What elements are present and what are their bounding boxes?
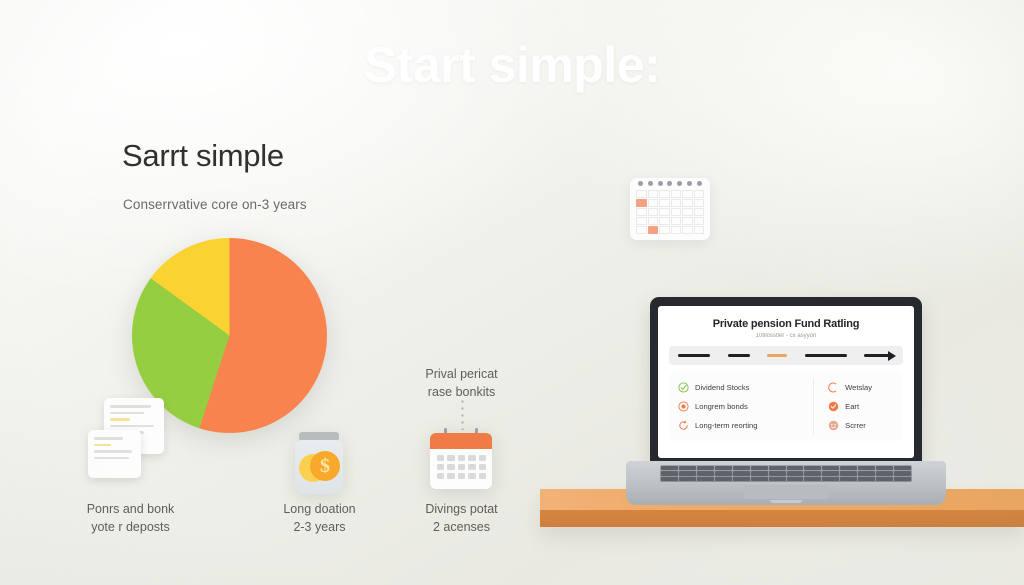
keyboard-key <box>787 471 804 475</box>
keyboard-key <box>715 477 732 481</box>
keyboard-key <box>876 477 893 481</box>
caption-jar: Long doation 2-3 years <box>237 500 402 536</box>
calendar-cell <box>694 208 705 216</box>
keyboard-key <box>733 471 750 475</box>
calendar-cell <box>671 190 682 198</box>
progress-segment-3-active <box>767 354 787 357</box>
keyboard-key <box>769 466 786 470</box>
keyboard-key <box>822 471 839 475</box>
laptop-notch <box>770 500 802 503</box>
laptop-base <box>626 461 946 505</box>
calendar-cell <box>648 217 659 225</box>
keyboard-key <box>715 466 732 470</box>
calendar-cell <box>671 208 682 216</box>
check-filled-icon <box>828 401 839 412</box>
list-item-label: Longrem bonds <box>695 402 748 411</box>
money-jar-icon: $ <box>292 432 346 494</box>
calendar-cell <box>659 199 670 207</box>
calendar-cell <box>659 226 670 234</box>
caption-documents-line2: yote r deposts <box>48 518 213 536</box>
keyboard-key <box>840 477 857 481</box>
calendar-cell <box>682 208 693 216</box>
hero-title: Start simple: <box>0 36 1024 94</box>
callout-text: Prival pericat rase bonkits <box>379 365 544 401</box>
laptop-lid: Private pension Fund Ratling 10filosstle… <box>650 297 922 467</box>
keyboard-key <box>661 477 678 481</box>
keyboard-key <box>679 477 696 481</box>
keyboard-key <box>787 477 804 481</box>
progress-segment-4 <box>805 354 847 357</box>
keyboard-key <box>787 466 804 470</box>
spiral-calendar-grid <box>636 190 704 234</box>
list-item-label: Wetslay <box>845 383 872 392</box>
calendar-cell <box>682 199 693 207</box>
progress-bar[interactable] <box>669 346 903 365</box>
arrow-right-icon <box>864 354 894 357</box>
calendar-cell <box>694 199 705 207</box>
caption-jar-line1: Long doation <box>237 500 402 518</box>
keyboard-key <box>751 471 768 475</box>
calendar-cell <box>671 217 682 225</box>
list-item[interactable]: Dividend Stocks <box>673 378 813 397</box>
list-item-label: Dividend Stocks <box>695 383 749 392</box>
calendar-cell <box>648 199 659 207</box>
list-column-left: Dividend Stocks Longrem bonds <box>673 378 813 435</box>
keyboard-key <box>894 477 911 481</box>
keyboard-key <box>858 471 875 475</box>
progress-segment-2 <box>728 354 750 357</box>
calendar-cell <box>636 226 647 234</box>
laptop-trackpad[interactable] <box>744 485 828 499</box>
jar-body: $ <box>295 440 343 494</box>
laptop: Private pension Fund Ratling 10filosstle… <box>626 297 946 509</box>
keyboard-key <box>894 466 911 470</box>
calendar-cell <box>671 226 682 234</box>
keyboard-key <box>858 466 875 470</box>
page-title: Sarrt simple <box>122 138 284 174</box>
caption-documents: Ponrs and bonk yote r deposts <box>48 500 213 536</box>
keyboard-key <box>822 466 839 470</box>
page-subtitle: Conserrvative core on-3 years <box>123 197 307 212</box>
caption-calendar-line2: 2 acenses <box>379 518 544 536</box>
check-circle-icon <box>678 382 689 393</box>
list-item[interactable]: Long-term reorting <box>673 416 813 435</box>
keyboard-key <box>804 477 821 481</box>
record-circle-icon <box>678 401 689 412</box>
keyboard-key <box>840 471 857 475</box>
keyboard-key <box>715 471 732 475</box>
spiral-calendar-icon <box>630 178 710 240</box>
calendar-grid <box>430 449 492 489</box>
keyboard-key <box>679 471 696 475</box>
keyboard-key <box>661 471 678 475</box>
keyboard-key <box>733 466 750 470</box>
list-item[interactable]: Scrrer <box>823 416 899 435</box>
list-item[interactable]: Longrem bonds <box>673 397 813 416</box>
calendar-cell <box>648 190 659 198</box>
calendar-cell <box>636 217 647 225</box>
caption-calendar-line1: Divings potat <box>379 500 544 518</box>
laptop-keyboard[interactable] <box>660 465 912 482</box>
keyboard-key <box>769 471 786 475</box>
list-item[interactable]: Eart <box>823 397 899 416</box>
keyboard-key <box>751 466 768 470</box>
keyboard-key <box>840 466 857 470</box>
calendar-cell <box>636 199 647 207</box>
callout-line1: Prival pericat <box>379 365 544 383</box>
calendar-cell <box>682 217 693 225</box>
calendar-cell <box>636 190 647 198</box>
calendar-cell <box>694 226 705 234</box>
calendar-cell <box>636 208 647 216</box>
screen-subtitle: 10filosstler - cx asyyon <box>669 333 903 339</box>
calendar-cell <box>659 217 670 225</box>
crescent-arc-icon <box>828 382 839 393</box>
keyboard-key <box>876 471 893 475</box>
caption-calendar: Divings potat 2 acenses <box>379 500 544 536</box>
list-item-label: Long-term reorting <box>695 421 757 430</box>
calendar-cell <box>694 190 705 198</box>
keyboard-key <box>661 466 678 470</box>
list-item-label: Eart <box>845 402 859 411</box>
keyboard-key <box>697 477 714 481</box>
list-item[interactable]: Wetslay <box>823 378 899 397</box>
screen-title: Private pension Fund Ratling <box>669 318 903 330</box>
keyboard-key <box>822 477 839 481</box>
document-card-front <box>88 430 141 478</box>
calendar-cell <box>659 208 670 216</box>
spiral-rings <box>638 181 702 186</box>
progress-segment-1 <box>678 354 710 357</box>
calendar-cell <box>648 226 659 234</box>
illustration-scene: Start simple: Sarrt simple Conserrvative… <box>0 0 1024 585</box>
keyboard-key <box>804 466 821 470</box>
keyboard-key <box>858 477 875 481</box>
calendar-cell <box>659 190 670 198</box>
laptop-screen: Private pension Fund Ratling 10filosstle… <box>658 306 914 458</box>
calendar-icon <box>430 433 492 489</box>
coin-front: $ <box>310 451 340 481</box>
caption-documents-line1: Ponrs and bonk <box>48 500 213 518</box>
keyboard-key <box>876 466 893 470</box>
keyboard-key <box>894 471 911 475</box>
documents-stack-icon <box>88 398 172 482</box>
dotted-connector <box>461 398 464 430</box>
refresh-arc-icon <box>678 420 689 431</box>
calendar-cell <box>671 199 682 207</box>
keyboard-key <box>769 477 786 481</box>
calendar-cell <box>682 226 693 234</box>
keyboard-key <box>733 477 750 481</box>
keyboard-key <box>697 466 714 470</box>
caption-jar-line2: 2-3 years <box>237 518 402 536</box>
list-item-label: Scrrer <box>845 421 866 430</box>
calendar-header <box>430 433 492 449</box>
face-circle-icon <box>828 420 839 431</box>
keyboard-key <box>697 471 714 475</box>
keyboard-key <box>679 466 696 470</box>
calendar-cell <box>694 217 705 225</box>
screen-list-card: Dividend Stocks Longrem bonds <box>669 371 903 441</box>
keyboard-key <box>804 471 821 475</box>
calendar-cell <box>648 208 659 216</box>
list-column-right: Wetslay Eart <box>813 378 899 435</box>
keyboard-key <box>751 477 768 481</box>
calendar-cell <box>682 190 693 198</box>
